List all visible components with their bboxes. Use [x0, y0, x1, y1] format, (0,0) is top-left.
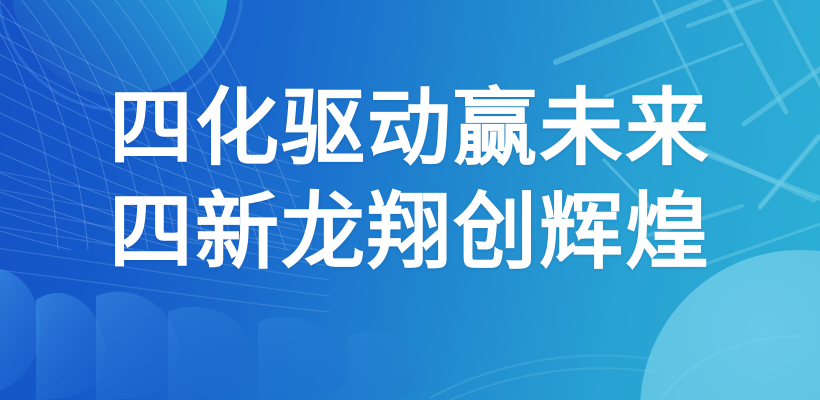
- bottom-wave-decoration: [430, 356, 660, 400]
- bottom-left-petals-decoration: [0, 268, 428, 400]
- mid-right-diagonal-lines-decoration: [640, 136, 820, 266]
- bottom-right-circle-decoration: [640, 250, 820, 400]
- top-left-circle-decoration: [0, 0, 242, 110]
- promotional-banner: 四化驱动赢未来 四新龙翔创辉煌: [0, 0, 820, 400]
- background-decoration-layer: [0, 0, 820, 400]
- left-sweep-arcs-decoration: [0, 168, 330, 312]
